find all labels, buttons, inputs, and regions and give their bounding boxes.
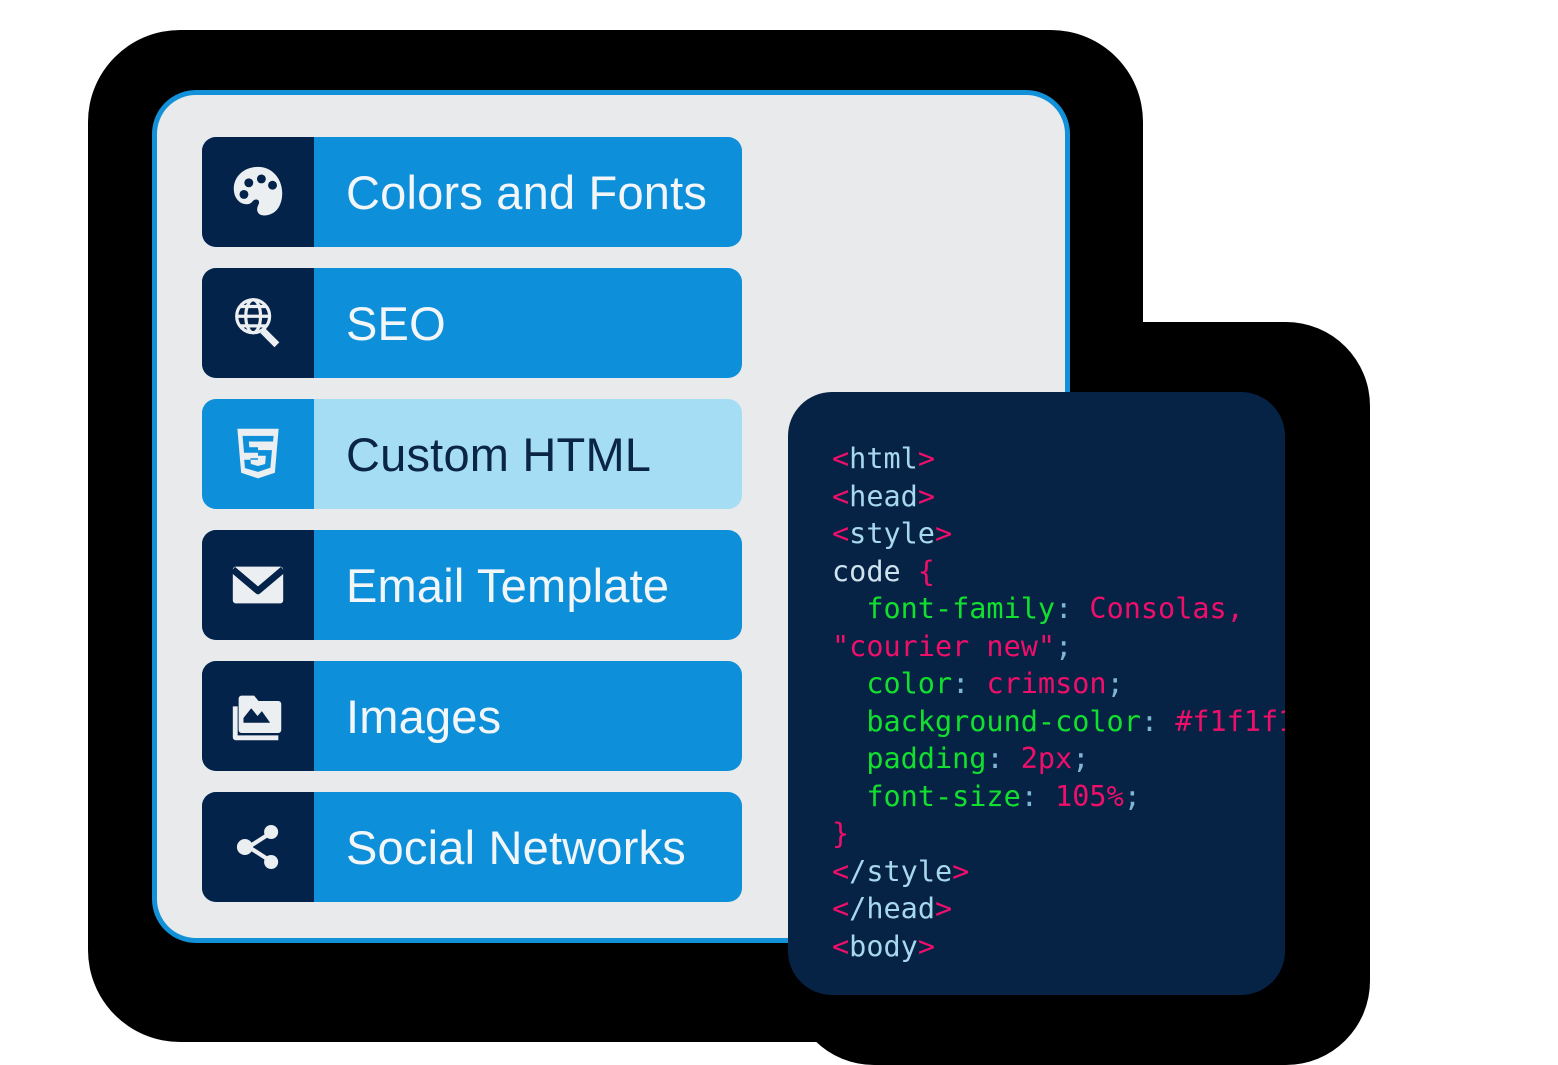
- code-token: [832, 742, 866, 775]
- code-token: [832, 592, 866, 625]
- code-token: {: [918, 555, 935, 588]
- code-token: >: [918, 480, 935, 513]
- code-token: code: [832, 555, 918, 588]
- photos-icon: [202, 661, 314, 771]
- code-token: head: [866, 892, 935, 925]
- envelope-icon: [202, 530, 314, 640]
- html-code-block[interactable]: <html> <head> <style> code { font-family…: [832, 440, 1255, 965]
- code-token: 105%: [1038, 780, 1124, 813]
- menu-item-colors-and-fonts[interactable]: Colors and Fonts: [202, 137, 742, 247]
- menu-item-seo[interactable]: SEO: [202, 268, 742, 378]
- code-token: padding: [866, 742, 986, 775]
- code-token: 2px: [1004, 742, 1073, 775]
- share-icon: [202, 792, 314, 902]
- code-token: [832, 705, 866, 738]
- code-token: ;: [1107, 667, 1124, 700]
- code-token: background-color: [866, 705, 1141, 738]
- code-token: style: [866, 855, 952, 888]
- code-token: <: [832, 517, 849, 550]
- menu-item-label: Email Template: [314, 530, 742, 640]
- code-token: <: [832, 442, 849, 475]
- code-preview-panel[interactable]: <html> <head> <style> code { font-family…: [788, 392, 1285, 995]
- code-token: [832, 780, 866, 813]
- settings-menu-list: Colors and Fonts SEO Custom HTML Email T…: [202, 137, 742, 902]
- menu-item-label: Colors and Fonts: [314, 137, 742, 247]
- code-token: /: [849, 892, 866, 925]
- code-token: Consolas,: [1072, 592, 1244, 625]
- menu-item-label: Custom HTML: [314, 399, 742, 509]
- code-token: ;: [1055, 630, 1072, 663]
- code-token: >: [918, 442, 935, 475]
- menu-item-social-networks[interactable]: Social Networks: [202, 792, 742, 902]
- code-token: <: [832, 480, 849, 513]
- code-token: font-family: [866, 592, 1055, 625]
- menu-item-label: SEO: [314, 268, 742, 378]
- menu-item-email-template[interactable]: Email Template: [202, 530, 742, 640]
- code-token: style: [849, 517, 935, 550]
- code-token: <: [832, 855, 849, 888]
- code-token: >: [952, 855, 969, 888]
- code-token: :: [986, 742, 1003, 775]
- code-token: :: [1021, 780, 1038, 813]
- code-token: #f1f1f1: [1158, 705, 1285, 738]
- code-token: ;: [1124, 780, 1141, 813]
- code-token: color: [866, 667, 952, 700]
- palette-icon: [202, 137, 314, 247]
- menu-item-images[interactable]: Images: [202, 661, 742, 771]
- html5-logo-icon: [202, 399, 314, 509]
- globe-search-icon: [202, 268, 314, 378]
- code-token: "courier new": [832, 630, 1055, 663]
- code-token: font-size: [866, 780, 1020, 813]
- code-token: :: [1055, 592, 1072, 625]
- code-token: >: [935, 892, 952, 925]
- code-token: head: [849, 480, 918, 513]
- code-token: <: [832, 930, 849, 963]
- code-token: :: [1141, 705, 1158, 738]
- code-token: }: [832, 817, 849, 850]
- code-token: html: [849, 442, 918, 475]
- menu-item-label: Social Networks: [314, 792, 742, 902]
- code-token: body: [849, 930, 918, 963]
- code-token: crimson: [969, 667, 1106, 700]
- menu-item-custom-html[interactable]: Custom HTML: [202, 399, 742, 509]
- code-token: [832, 667, 866, 700]
- code-token: <: [832, 892, 849, 925]
- code-token: :: [952, 667, 969, 700]
- code-token: >: [935, 517, 952, 550]
- code-token: ;: [1072, 742, 1089, 775]
- menu-item-label: Images: [314, 661, 742, 771]
- code-token: /: [849, 855, 866, 888]
- code-token: >: [918, 930, 935, 963]
